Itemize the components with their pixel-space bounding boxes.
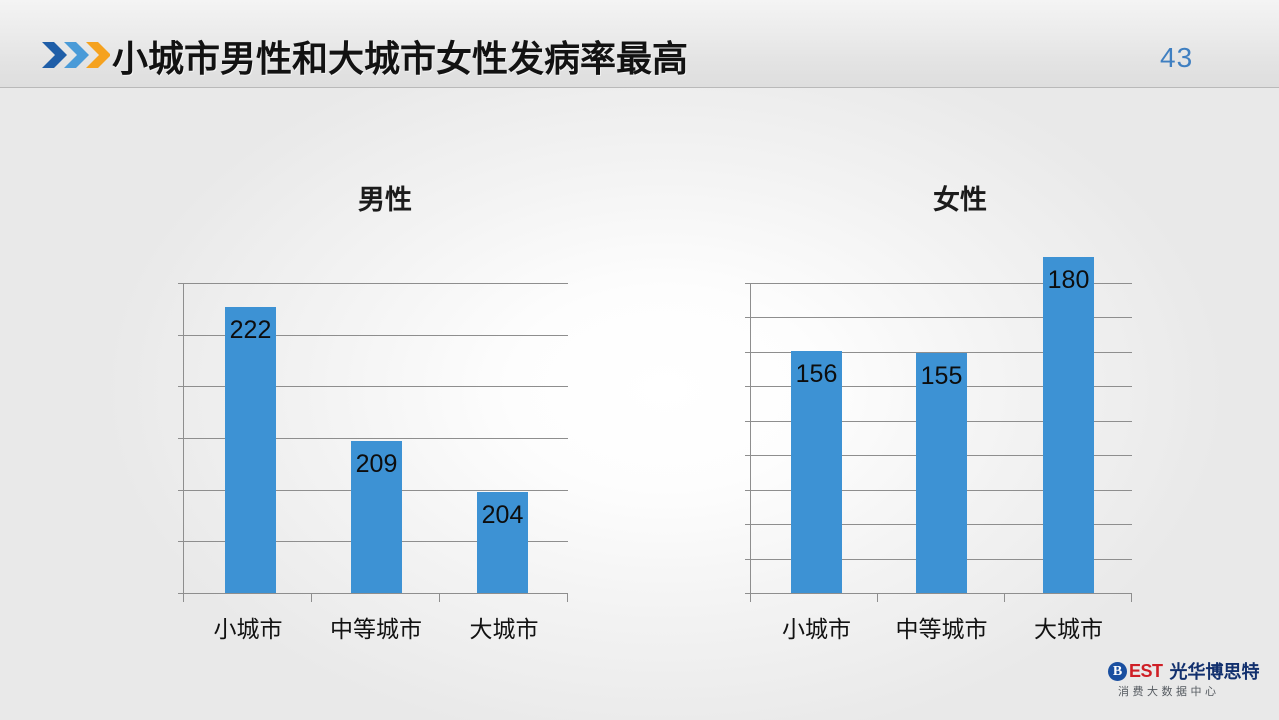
y-tick	[178, 335, 187, 336]
plot-area-male: 222 209 204 小城市 中等城市 大城市	[183, 283, 568, 593]
category-label: 小城市	[753, 610, 880, 644]
x-tick	[877, 593, 878, 602]
y-tick	[745, 455, 754, 456]
y-tick	[745, 386, 754, 387]
y-tick	[178, 438, 187, 439]
x-tick	[311, 593, 312, 602]
y-tick	[745, 317, 754, 318]
chart-title-female: 女性	[725, 178, 1195, 217]
y-axis-female	[750, 283, 751, 593]
x-tick	[183, 593, 184, 602]
page-number: 43	[1160, 42, 1193, 74]
x-tick	[750, 593, 751, 602]
y-tick	[745, 559, 754, 560]
y-tick	[178, 541, 187, 542]
y-tick	[178, 386, 187, 387]
chart-male: 男性	[150, 178, 620, 648]
category-label: 中等城市	[312, 610, 440, 644]
y-tick	[745, 283, 754, 284]
bar-value-label: 204	[477, 501, 528, 530]
y-tick	[178, 490, 187, 491]
category-label: 小城市	[184, 610, 312, 644]
logo-name-cn: 光华博思特	[1170, 658, 1260, 684]
brand-logo: B EST 光华博思特 消费大数据中心	[1108, 658, 1268, 710]
x-tick	[1004, 593, 1005, 602]
bar-male-small-city[interactable]	[225, 307, 276, 593]
y-tick	[745, 352, 754, 353]
slide: 小城市男性和大城市女性发病率最高 43 男性	[0, 0, 1279, 720]
logo-b-mark-icon: B	[1108, 662, 1127, 681]
logo-name-en: EST	[1129, 661, 1163, 682]
bar-value-label: 209	[351, 450, 402, 479]
bar-value-label: 222	[225, 316, 276, 345]
x-tick	[439, 593, 440, 602]
bar-value-label: 156	[791, 360, 842, 389]
page-title: 小城市男性和大城市女性发病率最高	[112, 30, 688, 82]
plot-area-female: 156 155 180 小城市 中等城市 大城市	[750, 283, 1132, 593]
y-tick	[745, 421, 754, 422]
slide-header: 小城市男性和大城市女性发病率最高 43	[0, 0, 1279, 88]
chart-female: 女性	[725, 178, 1195, 648]
chevron-triple-icon	[40, 39, 110, 71]
x-tick	[1131, 593, 1132, 602]
y-tick	[745, 490, 754, 491]
y-tick	[178, 283, 187, 284]
logo-wordmark: B EST 光华博思特	[1108, 658, 1260, 684]
category-label: 中等城市	[878, 610, 1005, 644]
logo-tagline: 消费大数据中心	[1118, 683, 1220, 699]
x-axis-male	[183, 593, 568, 594]
gridline	[183, 283, 568, 284]
category-label: 大城市	[440, 610, 568, 644]
bar-value-label: 180	[1043, 266, 1094, 295]
bar-value-label: 155	[916, 362, 967, 391]
category-label: 大城市	[1005, 610, 1132, 644]
x-tick	[567, 593, 568, 602]
bar-female-large-city[interactable]	[1043, 257, 1094, 593]
x-axis-female	[750, 593, 1132, 594]
chart-title-male: 男性	[150, 178, 620, 217]
y-tick	[745, 524, 754, 525]
